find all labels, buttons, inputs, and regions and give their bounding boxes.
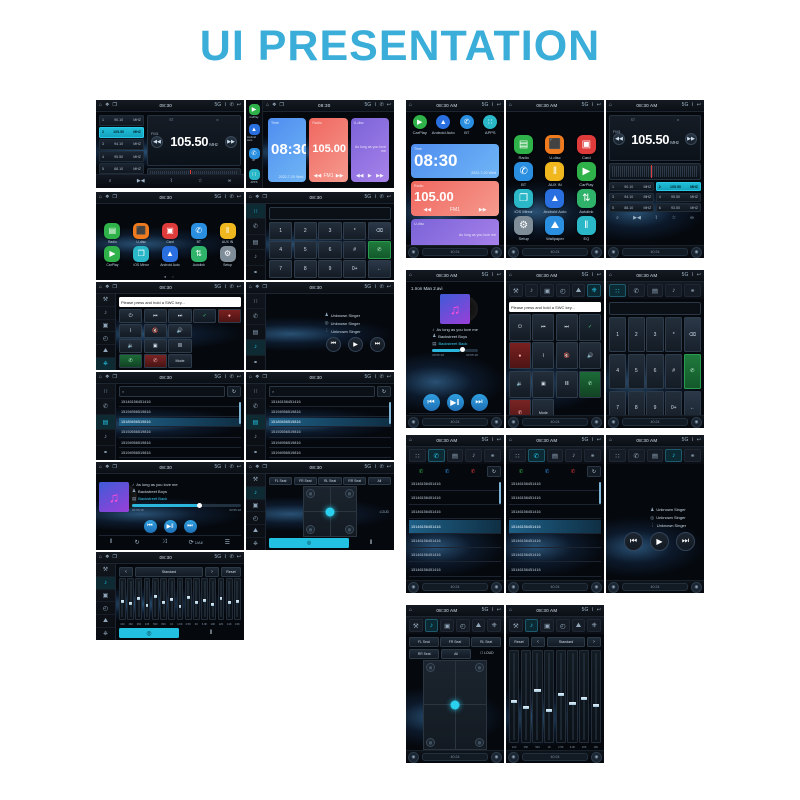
app-icon-card[interactable]: ▣Card bbox=[572, 135, 601, 160]
mic-icon[interactable]: ⌇ bbox=[691, 438, 693, 443]
dialer-key-5[interactable]: 4 bbox=[269, 241, 292, 259]
eq-slider-handle[interactable] bbox=[534, 689, 540, 692]
radio-bottom-icon-3[interactable]: ☆ bbox=[672, 216, 676, 221]
radio-next-button[interactable]: ▶▶ bbox=[225, 136, 237, 148]
player-progress[interactable] bbox=[432, 349, 478, 352]
settings-rail-wallpaper[interactable]: ⛰ bbox=[96, 615, 115, 628]
home-icon[interactable]: ⌂ bbox=[249, 375, 252, 380]
dialer-key-2[interactable]: 3 bbox=[318, 222, 341, 240]
mic-icon[interactable]: ⌇ bbox=[224, 285, 226, 290]
eq-slider-handle[interactable] bbox=[162, 601, 165, 604]
contact-row[interactable]: 15194956519816 bbox=[269, 439, 391, 448]
seat-tab-fr-seat[interactable]: FR Seat bbox=[294, 477, 317, 485]
dialer-key-5[interactable]: 4 bbox=[609, 354, 626, 389]
back-icon[interactable]: ↩ bbox=[697, 103, 701, 108]
settings-tab-car[interactable]: ▣ bbox=[540, 284, 554, 297]
eq-preset-name[interactable]: Standard bbox=[547, 637, 585, 647]
app-icon-setup[interactable]: ⚙Setup bbox=[509, 216, 538, 241]
dialer-key-1[interactable]: 2 bbox=[628, 317, 645, 352]
app-icon-carplay[interactable]: ▶CarPlay bbox=[99, 246, 126, 267]
contact-row[interactable]: 15194956519816 bbox=[119, 449, 241, 458]
home-icon[interactable]: ⌂ bbox=[99, 103, 102, 108]
balance-grid[interactable]: ◎◎◎◎ bbox=[303, 486, 357, 537]
phone-tab-contacts[interactable]: ▤ bbox=[647, 449, 664, 462]
phone-rail-btmusic[interactable]: ♪ bbox=[246, 250, 265, 265]
balance-puck[interactable] bbox=[326, 507, 335, 516]
settings-rail-time[interactable]: ◴ bbox=[96, 332, 115, 345]
seat-tab-all[interactable]: All bbox=[441, 649, 471, 659]
calllog-filter-outgoing[interactable]: ✆ bbox=[435, 469, 459, 475]
app-icon-aux-in[interactable]: ‖AUX IN bbox=[540, 162, 569, 187]
player-progress-knob[interactable] bbox=[460, 347, 465, 352]
calllog-row[interactable]: 15146156451416 bbox=[509, 520, 601, 533]
dock-item-bt[interactable]: ✆BT bbox=[455, 115, 479, 135]
home-icon[interactable]: ⌂ bbox=[249, 465, 252, 470]
app-icon-carplay[interactable]: ▶CarPlay bbox=[572, 162, 601, 187]
power-knob[interactable]: ◉ bbox=[408, 582, 419, 593]
eq-slider-160[interactable] bbox=[127, 578, 134, 620]
calllog-filter-outgoing[interactable]: ✆ bbox=[535, 469, 559, 475]
player-prev-button[interactable]: ⏮ bbox=[423, 394, 440, 411]
dialer-key-7[interactable]: 6 bbox=[318, 241, 341, 259]
phone-tab-btmusic[interactable]: ♪ bbox=[665, 284, 682, 297]
eq-slider-handle[interactable] bbox=[195, 601, 198, 604]
home-icon[interactable]: ⌂ bbox=[99, 465, 102, 470]
dialer-key-9[interactable]: ✆ bbox=[368, 241, 391, 259]
speaker-bl-icon[interactable]: ◎ bbox=[426, 738, 435, 747]
swc-key-0[interactable]: ⏻ bbox=[509, 314, 531, 341]
swc-key-11[interactable]: ▣ bbox=[532, 371, 554, 398]
phone-rail-pair[interactable]: ⚭ bbox=[246, 446, 265, 460]
eq-slider-handle[interactable] bbox=[146, 604, 149, 607]
mic-icon[interactable]: ⌇ bbox=[491, 103, 493, 108]
settings-tab-wallpaper[interactable]: ⛰ bbox=[472, 619, 486, 632]
mic-icon[interactable]: ⌇ bbox=[374, 465, 376, 470]
speaker-tr-icon[interactable]: ◎ bbox=[475, 663, 484, 672]
settings-tab-time[interactable]: ◴ bbox=[556, 284, 570, 297]
phone-rail-btmusic[interactable]: ♪ bbox=[96, 430, 115, 445]
eq-slider-2.5K[interactable] bbox=[185, 578, 192, 620]
dialer-key-3[interactable]: * bbox=[343, 222, 366, 240]
settings-rail-wallpaper[interactable]: ⛰ bbox=[96, 345, 115, 358]
radio-bottom-icon-1[interactable]: ▶◀ bbox=[633, 216, 641, 221]
balance-puck[interactable] bbox=[451, 700, 460, 709]
phone-icon[interactable]: ✆ bbox=[230, 103, 234, 108]
swc-key-17[interactable]: Mode bbox=[168, 354, 191, 368]
contacts-refresh-button[interactable]: ↻ bbox=[227, 386, 241, 397]
swc-key-7[interactable]: 🔊 bbox=[579, 342, 601, 369]
seat-tab-fl-seat[interactable]: FL Seat bbox=[269, 477, 292, 485]
phone-rail-contacts[interactable]: ▤ bbox=[246, 325, 265, 340]
dialer-key-4[interactable]: ⌫ bbox=[368, 222, 391, 240]
swc-key-4[interactable]: ● bbox=[509, 342, 531, 369]
dialer-key-14[interactable]: ← bbox=[368, 260, 391, 278]
eq-slider-handle[interactable] bbox=[187, 596, 190, 599]
swc-key-1[interactable]: ⏮ bbox=[532, 314, 554, 341]
swc-key-1[interactable]: ⏮ bbox=[144, 309, 167, 323]
mic-icon[interactable]: ⌇ bbox=[591, 608, 593, 613]
back-icon[interactable]: ↩ bbox=[387, 103, 391, 108]
settings-tab-swc[interactable]: ⎈ bbox=[487, 619, 501, 632]
settings-tab-general[interactable]: ⚒ bbox=[509, 619, 523, 632]
mic-icon[interactable]: ⌇ bbox=[224, 103, 226, 108]
card-udisc[interactable]: U-discAs long as you love me◀◀▶▶▶ bbox=[351, 118, 389, 182]
eq-slider-250[interactable] bbox=[135, 578, 142, 620]
radio-tuning-dial[interactable] bbox=[609, 163, 701, 180]
contacts-search-input[interactable]: ⌕ bbox=[119, 386, 225, 397]
power-knob[interactable]: ◉ bbox=[508, 247, 519, 258]
eq-slider-500[interactable] bbox=[152, 578, 159, 620]
eq-slider-handle[interactable] bbox=[511, 700, 517, 703]
back-icon[interactable]: ↩ bbox=[597, 608, 601, 613]
back-icon[interactable]: ↩ bbox=[697, 273, 701, 278]
swc-key-5[interactable]: ⌇ bbox=[532, 342, 554, 369]
phone-rail-keypad[interactable]: ∷ bbox=[96, 384, 115, 399]
mic-icon[interactable]: ⌇ bbox=[224, 195, 226, 200]
contact-row[interactable]: 15192656519816 bbox=[269, 428, 391, 437]
phone-rail-keypad[interactable]: ∷ bbox=[246, 384, 265, 399]
dialer-key-0[interactable]: 1 bbox=[269, 222, 292, 240]
scrollbar-thumb[interactable] bbox=[389, 402, 391, 424]
back-icon[interactable]: ↩ bbox=[237, 555, 241, 560]
dialer-key-0[interactable]: 1 bbox=[609, 317, 626, 352]
app-icon-ios-mirror[interactable]: ❐iOS Mirror bbox=[128, 246, 155, 267]
radio-bottom-icon-0[interactable]: ⌕ bbox=[616, 216, 619, 221]
radio-bottom-icon-2[interactable]: ⌇ bbox=[655, 216, 657, 221]
phone-tab-btmusic[interactable]: ♪ bbox=[565, 449, 582, 462]
swc-key-5[interactable]: ⌇ bbox=[119, 324, 142, 338]
btmusic-prev-button[interactable]: ⏮ bbox=[624, 532, 643, 551]
eq-slider-315[interactable] bbox=[144, 578, 151, 620]
home-icon[interactable]: ⌂ bbox=[99, 555, 102, 560]
home-icon[interactable]: ⌂ bbox=[99, 375, 102, 380]
settings-tab-wallpaper[interactable]: ⛰ bbox=[572, 619, 586, 632]
seat-tab-rr-seat[interactable]: RR Seat bbox=[343, 477, 366, 485]
radio-bottom-icon-4[interactable]: ∞ bbox=[690, 216, 694, 221]
eq-slider-handle[interactable] bbox=[558, 693, 564, 696]
radio-preset-3[interactable]: 394.10MHZ bbox=[609, 193, 654, 202]
speaker-br-icon[interactable]: ◎ bbox=[475, 738, 484, 747]
eq-slider-10K[interactable] bbox=[579, 650, 589, 743]
calllog-row[interactable]: 15146156451416 bbox=[409, 563, 501, 576]
balance-tab-button[interactable]: ◎ bbox=[269, 538, 349, 548]
radio-preset-2[interactable]: 2105.50MHZ bbox=[99, 127, 144, 138]
back-icon[interactable]: ↩ bbox=[597, 273, 601, 278]
settings-rail-general[interactable]: ⚒ bbox=[246, 474, 265, 487]
settings-tab-car[interactable]: ▣ bbox=[540, 619, 554, 632]
dialer-number-input[interactable] bbox=[269, 207, 391, 220]
app-icon-setup[interactable]: ⚙Setup bbox=[214, 246, 241, 267]
phone-rail-calllog[interactable]: ✆ bbox=[246, 309, 265, 324]
contact-row[interactable]: 15146156451416 bbox=[269, 398, 391, 407]
home-icon[interactable]: ⌂ bbox=[249, 195, 252, 200]
dock-item-carplay[interactable]: ▶CarPlay bbox=[247, 101, 261, 122]
player-eq-button[interactable]: ‖ bbox=[110, 539, 112, 545]
calllog-filter-incoming[interactable]: ✆ bbox=[409, 469, 433, 475]
calllog-row[interactable]: 15146156451416 bbox=[509, 506, 601, 519]
calllog-refresh-button[interactable]: ↻ bbox=[487, 466, 501, 477]
seat-tab-fr-seat[interactable]: FR Seat bbox=[440, 637, 470, 647]
back-icon[interactable]: ↩ bbox=[387, 285, 391, 290]
phone-icon[interactable]: ✆ bbox=[380, 103, 384, 108]
eq-slider-500[interactable] bbox=[532, 650, 542, 743]
home-icon[interactable]: ⌂ bbox=[99, 285, 102, 290]
dock-item-carplay[interactable]: ▶CarPlay bbox=[408, 115, 432, 135]
eq-slider-6.3K[interactable] bbox=[567, 650, 577, 743]
speaker-tl-icon[interactable]: ◎ bbox=[426, 663, 435, 672]
volume-knob[interactable]: ◉ bbox=[591, 752, 602, 763]
phone-icon[interactable]: ✆ bbox=[230, 195, 234, 200]
app-icon-autolink[interactable]: ⇅Autolink bbox=[572, 189, 601, 214]
phone-tab-keypad[interactable]: ∷ bbox=[409, 449, 426, 462]
phone-tab-pair[interactable]: ⚭ bbox=[484, 449, 501, 462]
swc-key-15[interactable]: ✆ bbox=[579, 371, 601, 398]
radio-bottom-icon-2[interactable]: ⌇ bbox=[170, 179, 172, 184]
phone-rail-keypad[interactable]: ∷ bbox=[246, 204, 265, 219]
swc-key-0[interactable]: ⏻ bbox=[119, 309, 142, 323]
player-prev-button[interactable]: ⏮ bbox=[144, 520, 157, 533]
mic-icon[interactable]: ⌇ bbox=[224, 465, 226, 470]
eq-slider-handle[interactable] bbox=[170, 598, 173, 601]
phone-tab-btmusic[interactable]: ♪ bbox=[665, 449, 682, 462]
power-knob[interactable]: ◉ bbox=[608, 417, 619, 428]
phone-rail-calllog[interactable]: ✆ bbox=[96, 399, 115, 414]
seat-tab-rl-seat[interactable]: RL Seat bbox=[471, 637, 501, 647]
eq-slider-handle[interactable] bbox=[203, 599, 206, 602]
dialer-key-2[interactable]: 3 bbox=[646, 317, 663, 352]
eq-prev-preset-button[interactable]: ‹ bbox=[119, 567, 133, 577]
volume-knob[interactable]: ◉ bbox=[591, 247, 602, 258]
eq-slider-handle[interactable] bbox=[593, 704, 599, 707]
phone-rail-calllog[interactable]: ✆ bbox=[246, 399, 265, 414]
eq-slider-1K[interactable] bbox=[168, 578, 175, 620]
back-icon[interactable]: ↩ bbox=[497, 103, 501, 108]
calllog-row[interactable]: 15146156451416 bbox=[409, 478, 501, 491]
dialer-key-13[interactable]: 0+ bbox=[343, 260, 366, 278]
phone-rail-pair[interactable]: ⚭ bbox=[246, 356, 265, 370]
phone-icon[interactable]: ✆ bbox=[380, 465, 384, 470]
swc-key-12[interactable]: ‖‖ bbox=[556, 371, 578, 398]
app-icon-android-auto[interactable]: ▲Android Auto bbox=[157, 246, 184, 267]
eq-slider-16K[interactable] bbox=[234, 578, 241, 620]
eq-slider-10K[interactable] bbox=[209, 578, 216, 620]
card-radio-prev-icon[interactable]: ◀◀ bbox=[313, 173, 321, 179]
eq-prev-preset-button[interactable]: ‹ bbox=[531, 637, 545, 647]
apps-icon[interactable]: ❖ bbox=[272, 103, 276, 108]
eq-slider-800[interactable] bbox=[160, 578, 167, 620]
calllog-row[interactable]: 15146156451416 bbox=[409, 520, 501, 533]
power-knob[interactable]: ◉ bbox=[408, 417, 419, 428]
dialer-key-11[interactable]: 8 bbox=[294, 260, 317, 278]
back-icon[interactable]: ↩ bbox=[237, 465, 241, 470]
back-icon[interactable]: ↩ bbox=[387, 465, 391, 470]
dialer-key-6[interactable]: 5 bbox=[628, 354, 645, 389]
app-icon-bt[interactable]: ✆BT bbox=[509, 162, 538, 187]
phone-icon[interactable]: ✆ bbox=[380, 285, 384, 290]
apps-icon[interactable]: ❖ bbox=[255, 285, 259, 290]
phone-icon[interactable]: ✆ bbox=[230, 285, 234, 290]
swc-key-6[interactable]: 🔇 bbox=[556, 342, 578, 369]
mic-icon[interactable]: ⌇ bbox=[374, 195, 376, 200]
eq-slider-handle[interactable] bbox=[546, 709, 552, 712]
swc-key-2[interactable]: ⏭ bbox=[556, 314, 578, 341]
player-progress-knob[interactable] bbox=[197, 503, 202, 508]
calllog-row[interactable]: 15146156451416 bbox=[509, 478, 601, 491]
back-icon[interactable]: ↩ bbox=[497, 273, 501, 278]
mic-icon[interactable]: ⌇ bbox=[591, 438, 593, 443]
phone-tab-pair[interactable]: ⚭ bbox=[684, 284, 701, 297]
player-progress[interactable] bbox=[132, 504, 241, 507]
dialer-key-8[interactable]: # bbox=[665, 354, 682, 389]
swc-key-4[interactable]: ● bbox=[218, 309, 241, 323]
apps-icon[interactable]: ❖ bbox=[105, 195, 109, 200]
settings-rail-car[interactable]: ▣ bbox=[96, 590, 115, 603]
swc-key-12[interactable]: ‖‖ bbox=[168, 339, 191, 353]
player-playpause-button[interactable]: ▶‖ bbox=[164, 520, 177, 533]
back-icon[interactable]: ↩ bbox=[497, 438, 501, 443]
radio-bottom-icon-1[interactable]: ▶◀ bbox=[137, 179, 145, 184]
back-icon[interactable]: ↩ bbox=[497, 608, 501, 613]
contact-row[interactable]: 15194956519816 bbox=[119, 408, 241, 417]
eq-tab-button[interactable]: ‖ bbox=[351, 538, 391, 548]
eq-slider-250[interactable] bbox=[521, 650, 531, 743]
radio-preset-2[interactable]: 2105.50MHZ bbox=[656, 182, 701, 191]
app-icon-wallpaper[interactable]: ⛰Wallpaper bbox=[540, 216, 569, 241]
calllog-filter-incoming[interactable]: ✆ bbox=[509, 469, 533, 475]
btmusic-next-button[interactable]: ⏭ bbox=[676, 532, 695, 551]
phone-icon[interactable]: ✆ bbox=[380, 375, 384, 380]
settings-tab-time[interactable]: ◴ bbox=[456, 619, 470, 632]
back-icon[interactable]: ↩ bbox=[597, 438, 601, 443]
card-radio[interactable]: Radio105.00◀◀FM1▶▶ bbox=[411, 181, 499, 215]
back-icon[interactable]: ↩ bbox=[237, 375, 241, 380]
dock-item-bt[interactable]: ✆BT bbox=[247, 145, 261, 166]
phone-rail-calllog[interactable]: ✆ bbox=[246, 219, 265, 234]
power-knob[interactable]: ◉ bbox=[408, 247, 419, 258]
swc-key-16[interactable]: ✆ bbox=[144, 354, 167, 368]
settings-tab-swc[interactable]: ⎈ bbox=[587, 619, 601, 632]
dialer-key-3[interactable]: * bbox=[665, 317, 682, 352]
swc-key-3[interactable]: ✓ bbox=[579, 314, 601, 341]
eq-next-preset-button[interactable]: › bbox=[587, 637, 601, 647]
app-icon-radio[interactable]: ▤Radio bbox=[509, 135, 538, 160]
eq-slider-handle[interactable] bbox=[236, 600, 239, 603]
eq-slider-4K[interactable] bbox=[193, 578, 200, 620]
settings-rail-car[interactable]: ▣ bbox=[96, 320, 115, 333]
eq-slider-handle[interactable] bbox=[581, 697, 587, 700]
swc-key-7[interactable]: 🔊 bbox=[168, 324, 191, 338]
settings-tab-general[interactable]: ⚒ bbox=[409, 619, 423, 632]
eq-reset-button[interactable]: Reset bbox=[509, 637, 529, 647]
settings-rail-swc[interactable]: ⎈ bbox=[96, 628, 115, 640]
eq-slider-handle[interactable] bbox=[137, 597, 140, 600]
eq-reset-button[interactable]: Reset bbox=[221, 567, 241, 577]
swc-key-10[interactable]: 🔉 bbox=[119, 339, 142, 353]
calllog-row[interactable]: 15146156451416 bbox=[509, 492, 601, 505]
eq-preset-name[interactable]: Standard bbox=[135, 567, 203, 577]
settings-tab-time[interactable]: ◴ bbox=[556, 619, 570, 632]
phone-tab-contacts[interactable]: ▤ bbox=[447, 449, 464, 462]
radio-preset-4[interactable]: 495.50MHZ bbox=[656, 193, 701, 202]
eq-slider-100[interactable] bbox=[119, 578, 126, 620]
loud-toggle[interactable]: ☐ LOUD bbox=[473, 649, 501, 657]
app-icon-radio[interactable]: ▤Radio bbox=[99, 223, 126, 244]
apps-icon[interactable]: ❖ bbox=[105, 103, 109, 108]
calllog-row[interactable]: 15146156451416 bbox=[409, 492, 501, 505]
swc-key-10[interactable]: 🔉 bbox=[509, 371, 531, 398]
eq-slider-handle[interactable] bbox=[228, 601, 231, 604]
eq-slider-2.5K[interactable] bbox=[556, 650, 566, 743]
dock-item-android-auto[interactable]: ▲Android Auto bbox=[432, 115, 456, 135]
contacts-refresh-button[interactable]: ↻ bbox=[377, 386, 391, 397]
card-radio-next-icon[interactable]: ▶▶ bbox=[336, 173, 344, 179]
card-radio-next-icon[interactable]: ▶▶ bbox=[479, 207, 487, 213]
settings-tab-sound[interactable]: ♪ bbox=[525, 284, 539, 297]
settings-rail-time[interactable]: ◴ bbox=[96, 602, 115, 615]
apps-icon[interactable]: ❖ bbox=[255, 195, 259, 200]
phone-tab-contacts[interactable]: ▤ bbox=[547, 449, 564, 462]
mic-icon[interactable]: ⌇ bbox=[374, 285, 376, 290]
volume-knob[interactable]: ◉ bbox=[491, 417, 502, 428]
dialer-key-6[interactable]: 5 bbox=[294, 241, 317, 259]
phone-icon[interactable]: ✆ bbox=[380, 195, 384, 200]
settings-rail-sound[interactable]: ♪ bbox=[246, 487, 265, 500]
dock-item-apps[interactable]: ∷APPS bbox=[479, 115, 503, 135]
contact-row[interactable]: 15194956519816 bbox=[119, 439, 241, 448]
phone-tab-calllog[interactable]: ✆ bbox=[628, 284, 645, 297]
volume-knob[interactable]: ◉ bbox=[691, 247, 702, 258]
dialer-key-4[interactable]: ⌫ bbox=[684, 317, 701, 352]
settings-rail-sound[interactable]: ♪ bbox=[96, 577, 115, 590]
radio-preset-4[interactable]: 495.50MHZ bbox=[99, 151, 144, 162]
apps-icon[interactable]: ❖ bbox=[105, 465, 109, 470]
back-icon[interactable]: ↩ bbox=[237, 195, 241, 200]
btmusic-next-button[interactable]: ⏭ bbox=[370, 337, 385, 352]
app-icon-autolink[interactable]: ⇅Autolink bbox=[185, 246, 212, 267]
mic-icon[interactable]: ⌇ bbox=[591, 103, 593, 108]
back-icon[interactable]: ↩ bbox=[237, 285, 241, 290]
settings-tab-wallpaper[interactable]: ⛰ bbox=[572, 284, 586, 297]
eq-slider-14K[interactable] bbox=[226, 578, 233, 620]
mic-icon[interactable]: ⌇ bbox=[491, 608, 493, 613]
calllog-filter-missed[interactable]: ✆ bbox=[461, 469, 485, 475]
settings-rail-general[interactable]: ⚒ bbox=[96, 564, 115, 577]
radio-preset-3[interactable]: 394.10MHZ bbox=[99, 139, 144, 150]
eq-slider-16K[interactable] bbox=[591, 650, 601, 743]
phone-tab-calllog[interactable]: ✆ bbox=[528, 449, 545, 462]
phone-icon[interactable]: ✆ bbox=[230, 555, 234, 560]
power-knob[interactable]: ◉ bbox=[608, 247, 619, 258]
dialer-number-input[interactable] bbox=[609, 302, 701, 315]
settings-rail-wallpaper[interactable]: ⛰ bbox=[246, 525, 265, 538]
balance-grid[interactable]: ◎◎◎◎ bbox=[423, 660, 487, 751]
balance-tab-button[interactable]: ◎ bbox=[119, 628, 179, 638]
power-knob[interactable]: ◉ bbox=[408, 752, 419, 763]
calllog-row[interactable]: 15146156451416 bbox=[409, 506, 501, 519]
radio-preset-5[interactable]: 588.10MHZ bbox=[609, 203, 654, 212]
volume-knob[interactable]: ◉ bbox=[491, 582, 502, 593]
btmusic-play-button[interactable]: ▶ bbox=[650, 532, 669, 551]
app-icon-card[interactable]: ▣Card bbox=[157, 223, 184, 244]
calllog-filter-missed[interactable]: ✆ bbox=[561, 469, 585, 475]
apps-icon[interactable]: ❖ bbox=[105, 375, 109, 380]
radio-preset-6[interactable]: 693.50MHZ bbox=[656, 203, 701, 212]
calllog-refresh-button[interactable]: ↻ bbox=[587, 466, 601, 477]
volume-knob[interactable]: ◉ bbox=[591, 582, 602, 593]
eq-slider-handle[interactable] bbox=[121, 600, 124, 603]
mic-icon[interactable]: ⌇ bbox=[591, 273, 593, 278]
settings-rail-swc[interactable]: ⎈ bbox=[246, 538, 265, 550]
